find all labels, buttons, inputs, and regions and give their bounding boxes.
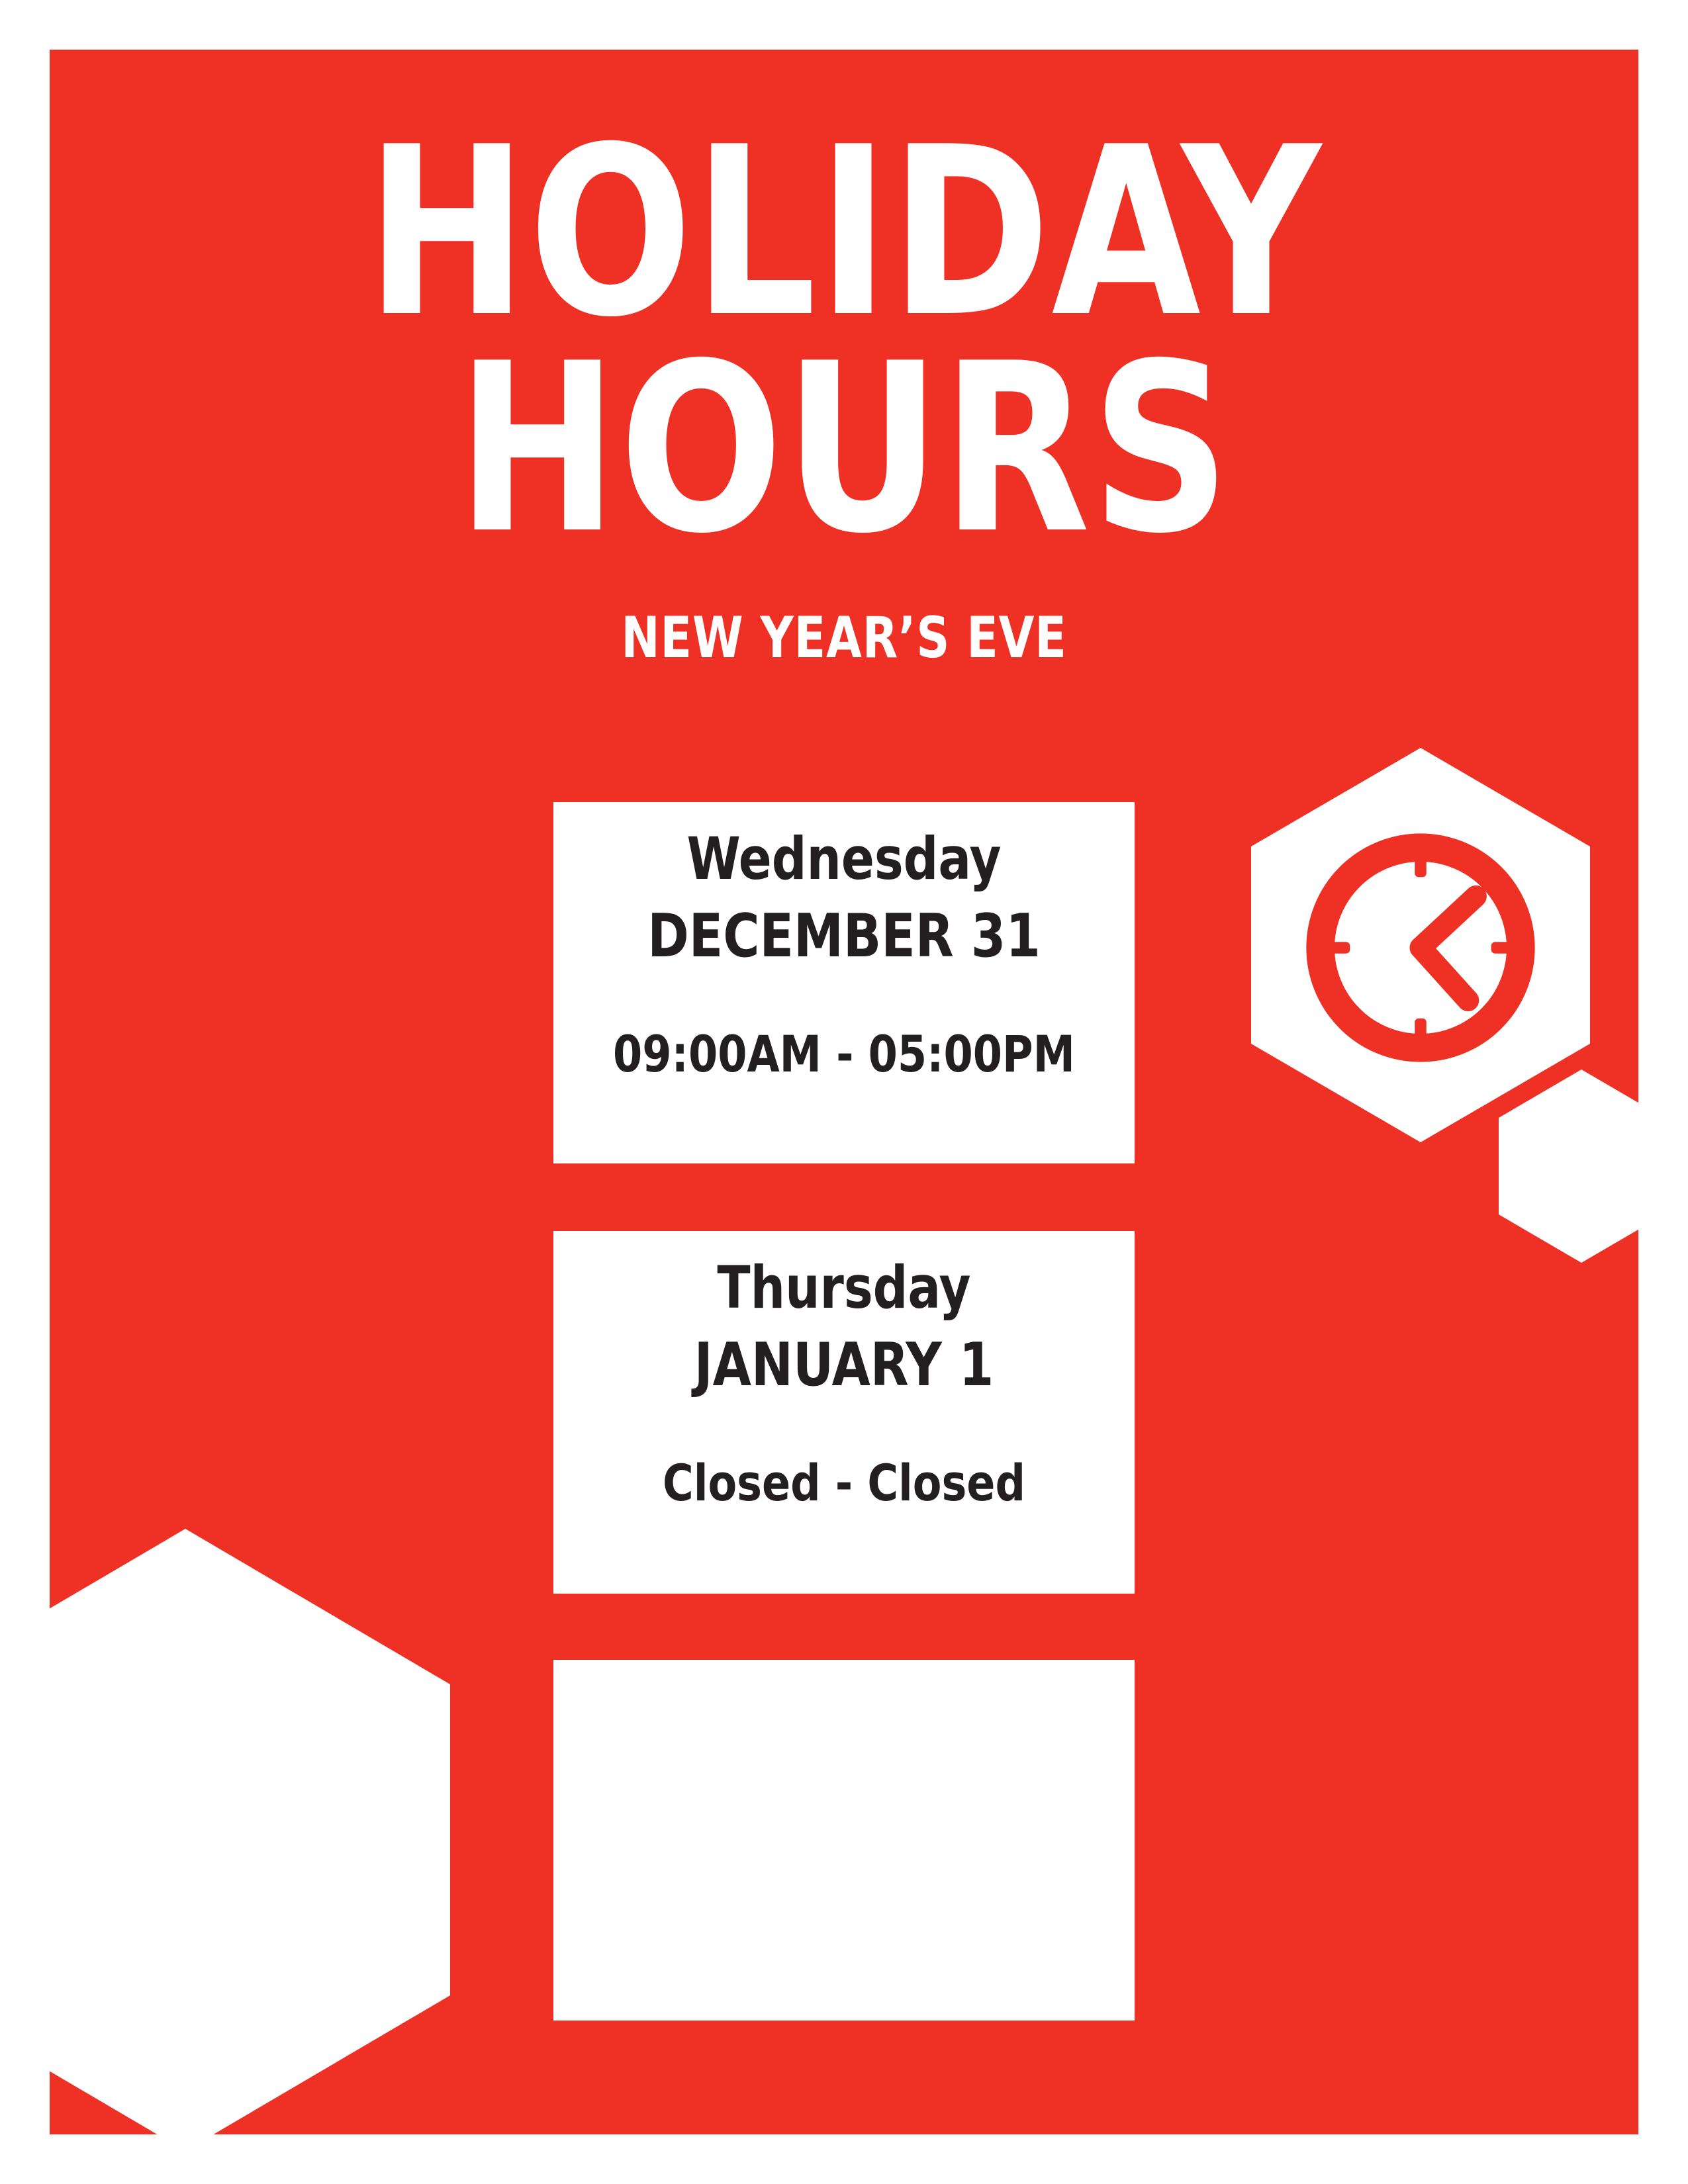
schedule-card: Wednesday DECEMBER 31 09:00AM - 05:00PM xyxy=(553,802,1135,1163)
schedule-hours: 09:00AM - 05:00PM xyxy=(592,1028,1096,1081)
headline-block: HOLIDAY HOURS NEW YEAR’S EVE xyxy=(50,119,1638,671)
holiday-hours-poster: HOLIDAY HOURS NEW YEAR’S EVE Wednesday D… xyxy=(0,0,1688,2184)
page-subtitle: NEW YEAR’S EVE xyxy=(129,605,1559,671)
schedule-weekday: Thursday xyxy=(592,1257,1096,1318)
schedule-date: JANUARY 1 xyxy=(592,1334,1096,1397)
page-title-line-2: HOURS xyxy=(113,336,1575,564)
clock-icon xyxy=(1292,819,1549,1076)
schedule-date: DECEMBER 31 xyxy=(592,905,1096,968)
schedule-hours: Closed - Closed xyxy=(592,1457,1096,1510)
schedule-card: Thursday JANUARY 1 Closed - Closed xyxy=(553,1231,1135,1594)
schedule-weekday: Wednesday xyxy=(592,829,1096,889)
schedule-card-empty xyxy=(553,1660,1135,2021)
